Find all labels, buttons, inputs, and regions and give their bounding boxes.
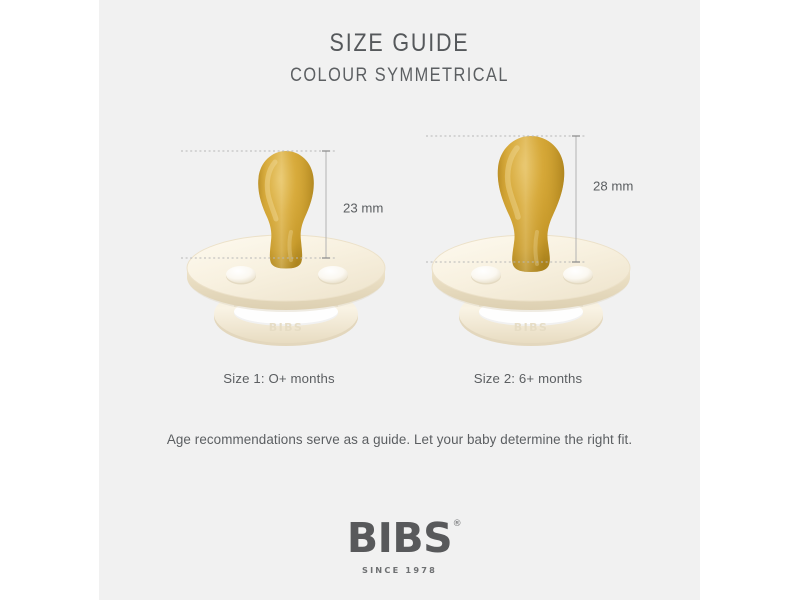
logo-wordmark-text: BIBS [347,514,452,562]
logo-tagline: SINCE 1978 [99,565,700,575]
logo-wordmark: BIBS ® [347,518,452,559]
product-caption-size-1: Size 1: O+ months [134,371,424,386]
disclaimer-text: Age recommendations serve as a guide. Le… [99,432,700,447]
measurement-label-size-2: 28 mm [593,178,633,193]
page-title: SIZE GUIDE [141,28,658,59]
measurement-label-size-1: 23 mm [343,200,383,215]
product-illustration-size-2: BIBS [386,120,676,370]
page-subtitle: COLOUR SYMMETRICAL [141,64,658,88]
product-caption-size-2: Size 2: 6+ months [383,371,673,386]
header: SIZE GUIDE COLOUR SYMMETRICAL [99,28,700,88]
brand-logo: BIBS ® SINCE 1978 [99,518,700,575]
content-panel: SIZE GUIDE COLOUR SYMMETRICAL [99,0,700,600]
ring-emboss-text: BIBS [514,321,548,334]
ring-emboss-text: BIBS [269,321,303,334]
pacifier-size-2-svg: BIBS [386,120,676,370]
size-guide-graphic: SIZE GUIDE COLOUR SYMMETRICAL [0,0,800,600]
registered-trademark-icon: ® [453,520,462,529]
